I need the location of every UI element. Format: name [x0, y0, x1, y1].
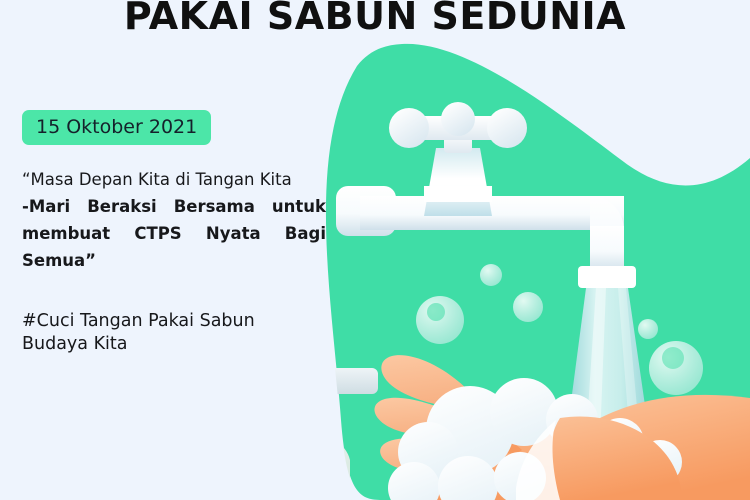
poster-canvas: PAKAI SABUN SEDUNIA 15 Oktober 2021 “Mas… — [0, 0, 750, 500]
quote-line-3: membuat CTPS Nyata Bagi — [22, 220, 326, 247]
faucet-knob-left — [389, 108, 429, 148]
bubble-small-1 — [480, 264, 502, 286]
hashtag-line-1: #Cuci Tangan Pakai Sabun — [22, 310, 322, 333]
hashtag-line-2: Budaya Kita — [22, 333, 322, 356]
bubble-small-3 — [638, 319, 658, 339]
quote-line-2: -Mari Beraksi Bersama untuk — [22, 193, 326, 220]
bubble-small-2 — [513, 292, 543, 322]
quote-block: “Masa Depan Kita di Tangan Kita -Mari Be… — [22, 166, 326, 274]
bubble-ring-2 — [649, 341, 703, 395]
hashtag-block: #Cuci Tangan Pakai Sabun Budaya Kita — [22, 310, 322, 356]
faucet-knob-right — [487, 108, 527, 148]
page-title: PAKAI SABUN SEDUNIA — [0, 0, 750, 38]
faucet-knob-center — [441, 102, 475, 136]
date-badge: 15 Oktober 2021 — [22, 110, 211, 145]
quote-line-1: “Masa Depan Kita di Tangan Kita — [22, 166, 326, 193]
quote-line-4: Semua” — [22, 247, 326, 274]
bubble-ring-1 — [416, 296, 464, 344]
